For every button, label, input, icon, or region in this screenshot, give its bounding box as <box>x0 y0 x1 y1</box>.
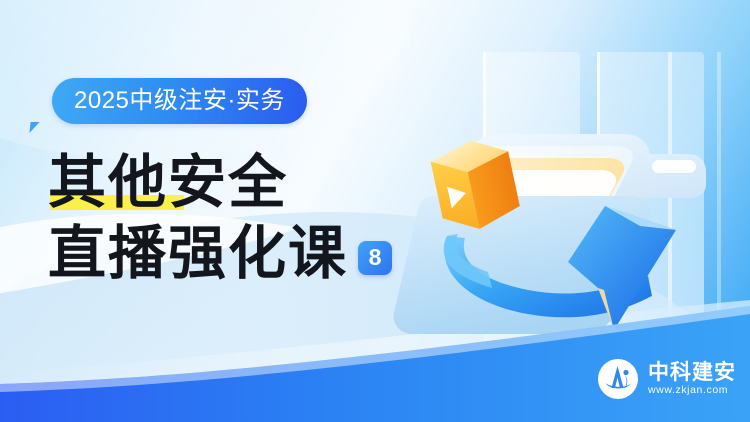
brand-logo[interactable]: 中科建安 www.zkjan.com <box>597 358 736 400</box>
headline-row-1: 其他安全 <box>48 152 392 213</box>
headline-line-1: 其他安全 <box>48 152 288 213</box>
episode-number-badge: 8 <box>358 241 392 275</box>
logo-text-block: 中科建安 www.zkjan.com <box>648 362 736 396</box>
episode-number: 8 <box>369 246 382 269</box>
zkjan-circle-logo-icon <box>597 358 639 400</box>
logo-brand-name: 中科建安 <box>648 362 736 383</box>
badge-tail-icon <box>29 122 48 133</box>
course-banner: 2025中级注安·实务 其他安全 直播强化课 8 中科建安 www.zkjan.… <box>0 0 750 422</box>
headline-row-2: 直播强化课 8 <box>48 223 392 284</box>
badge-label: 2025中级注安·实务 <box>74 89 285 113</box>
headline-line-2: 直播强化课 <box>48 223 348 284</box>
headline-block: 其他安全 直播强化课 8 <box>48 152 392 284</box>
course-category-badge[interactable]: 2025中级注安·实务 <box>52 78 307 124</box>
logo-website-url: www.zkjan.com <box>648 385 736 396</box>
